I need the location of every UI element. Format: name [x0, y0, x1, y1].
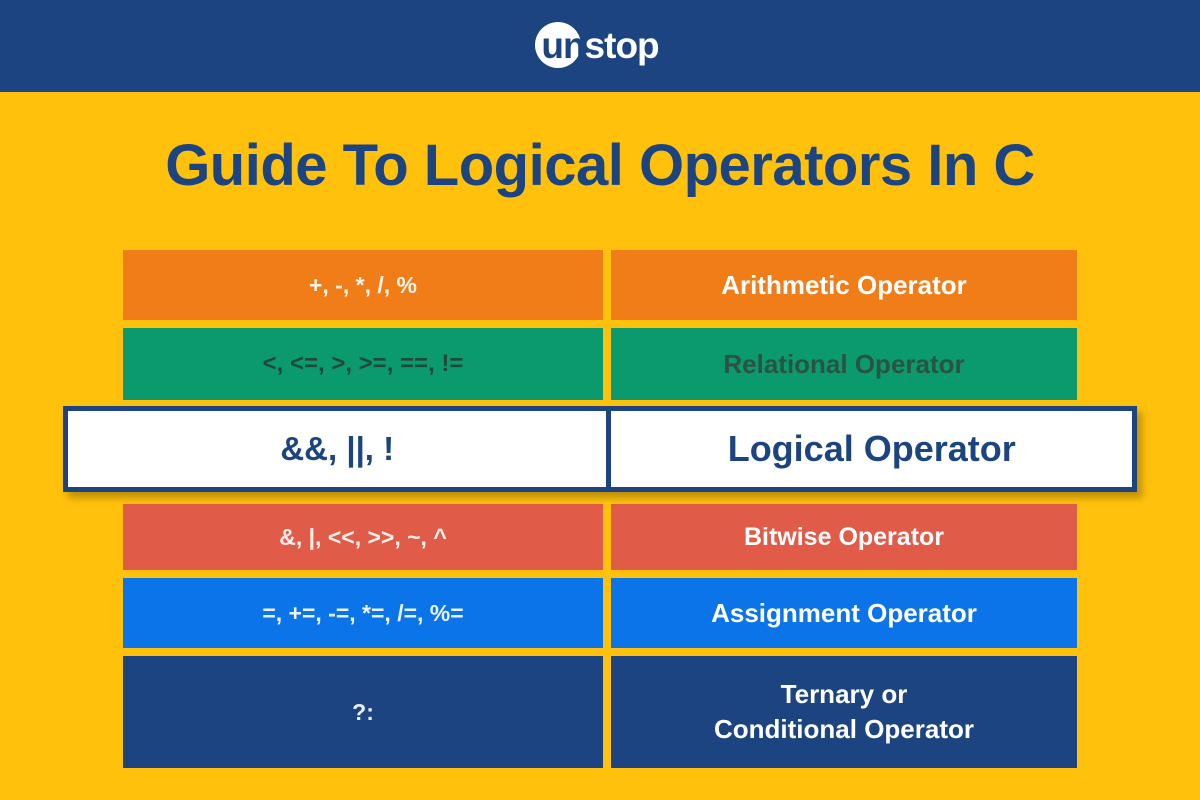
- operator-symbols-cell: =, +=, -=, *=, /=, %=: [123, 578, 603, 648]
- operator-name-cell: Bitwise Operator: [611, 504, 1077, 570]
- operators-table: +, -, *, /, % Arithmetic Operator <, <=,…: [123, 250, 1077, 776]
- infographic-page: un stop Guide To Logical Operators In C …: [0, 0, 1200, 800]
- table-row: &, |, <<, >>, ~, ^ Bitwise Operator: [123, 504, 1077, 570]
- page-title: Guide To Logical Operators In C: [0, 132, 1200, 199]
- logo-stop-text: stop: [585, 21, 659, 71]
- operator-name-cell: Arithmetic Operator: [611, 250, 1077, 320]
- logical-operator-name-cell: Logical Operator: [611, 411, 1132, 487]
- unstop-logo[interactable]: un stop: [541, 20, 658, 72]
- operator-symbols-cell: <, <=, >, >=, ==, !=: [123, 328, 603, 400]
- operator-name-line1: Ternary or: [781, 679, 908, 709]
- table-row: <, <=, >, >=, ==, != Relational Operator: [123, 328, 1077, 400]
- operator-name-cell: Ternary or Conditional Operator: [611, 656, 1077, 768]
- table-row: ?: Ternary or Conditional Operator: [123, 656, 1077, 768]
- table-row: =, +=, -=, *=, /=, %= Assignment Operato…: [123, 578, 1077, 648]
- brand-header-bar: un stop: [0, 0, 1200, 92]
- operator-symbols-cell: +, -, *, /, %: [123, 250, 603, 320]
- operator-name-cell: Relational Operator: [611, 328, 1077, 400]
- logical-operator-symbols-cell: &&, ||, !: [68, 411, 606, 487]
- logo-un-text: un: [541, 21, 584, 71]
- table-row: +, -, *, /, % Arithmetic Operator: [123, 250, 1077, 320]
- operator-symbols-cell: &, |, <<, >>, ~, ^: [123, 504, 603, 570]
- operator-name-line2: Conditional Operator: [714, 714, 974, 744]
- highlighted-logical-operator-row: &&, ||, ! Logical Operator: [63, 406, 1137, 492]
- operator-name-cell: Assignment Operator: [611, 578, 1077, 648]
- operator-symbols-cell: ?:: [123, 656, 603, 768]
